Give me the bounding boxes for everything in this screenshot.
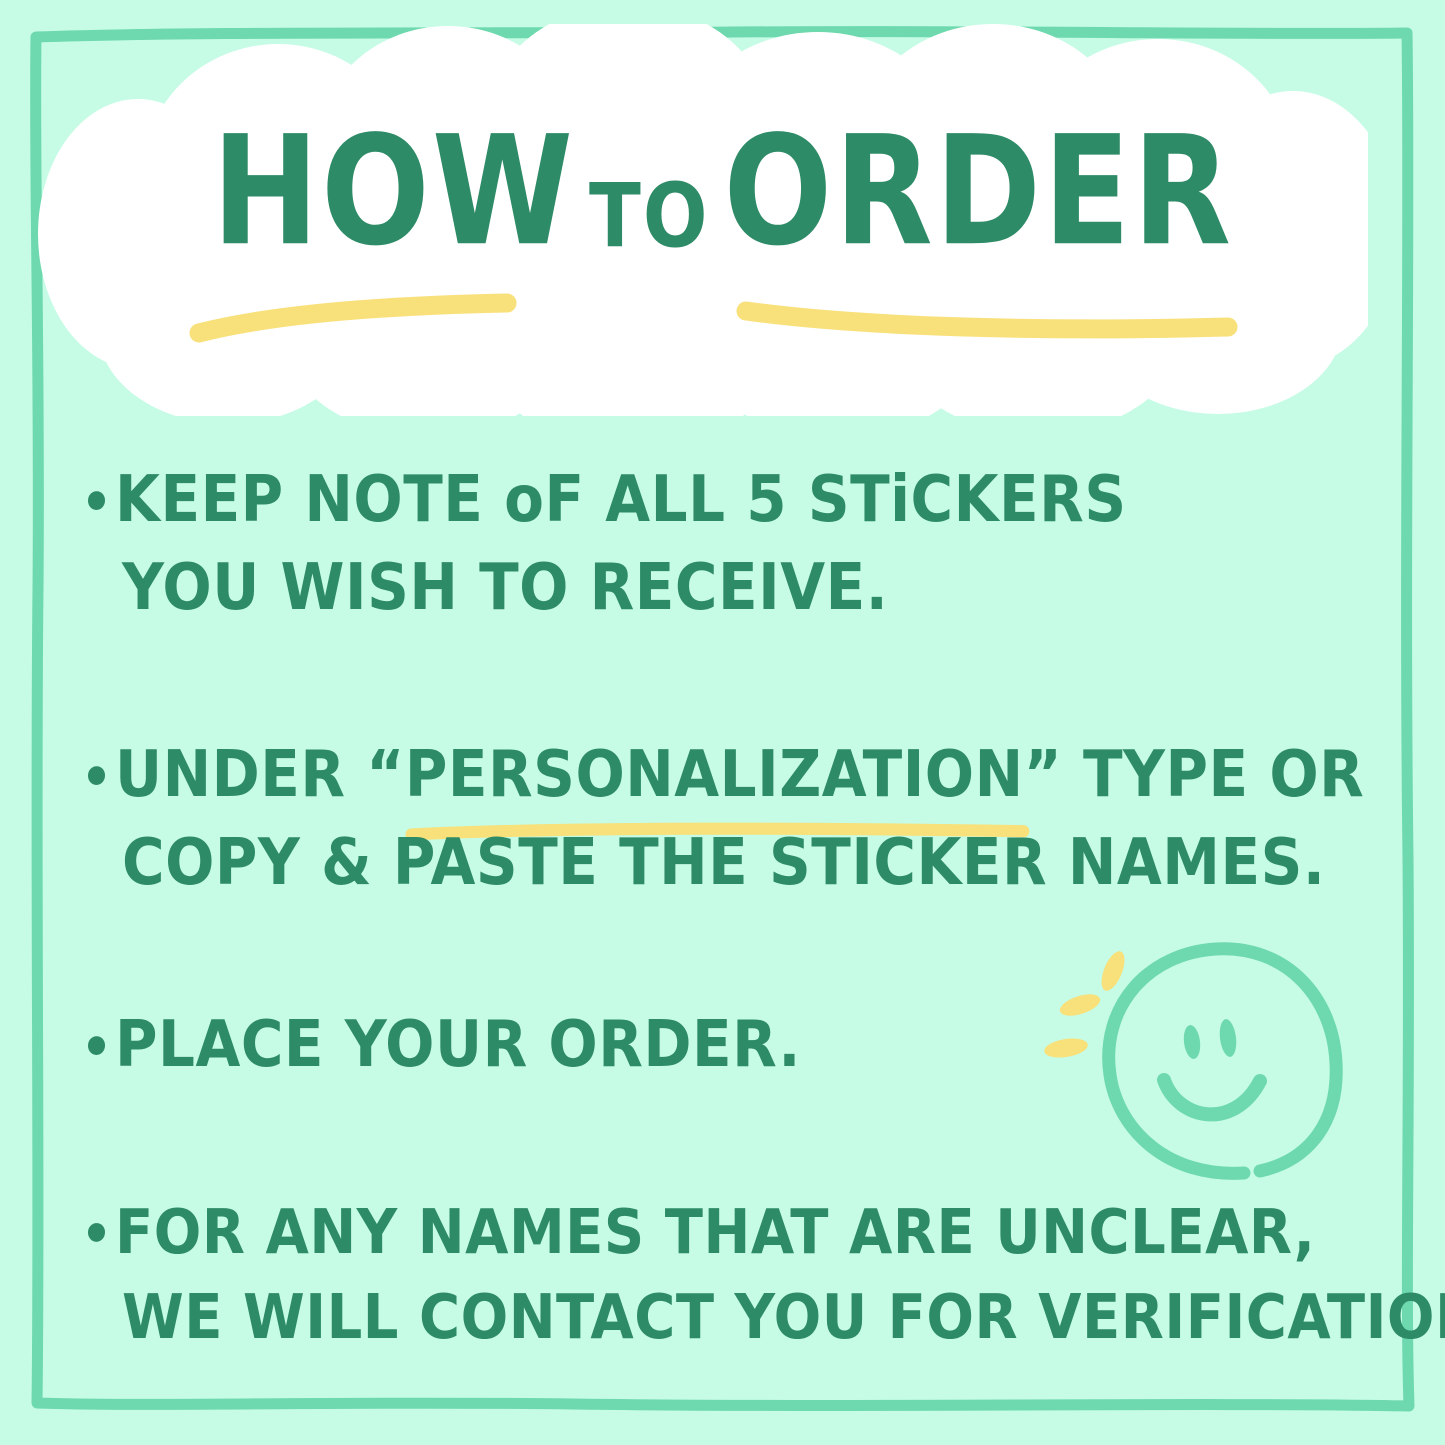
instruction-text: YOU WISH TO RECEIVE. — [122, 550, 888, 625]
bullet-dot-icon — [88, 1223, 105, 1242]
bullet-dot-icon — [88, 1036, 105, 1055]
list-item: PLACE YOUR ORDER. — [88, 1000, 801, 1088]
instruction-text: PLACE YOUR ORDER. — [115, 1007, 801, 1082]
instruction-text: COPY & PASTE THE STICKER NAMES. — [122, 825, 1325, 900]
instruction-line: KEEP NOTE oF ALL 5 STiCKERS — [88, 451, 1127, 548]
instruction-line: WE WILL CONTACT YOU FOR VERIFICATION. — [88, 1271, 1445, 1365]
instruction-text: WE WILL CONTACT YOU FOR VERIFICATION. — [122, 1282, 1445, 1354]
instruction-line: YOU WISH TO RECEIVE. — [88, 539, 1127, 636]
highlighted-term: PERSONALIZATION — [405, 726, 1024, 823]
instruction-line: PLACE YOUR ORDER. — [88, 996, 801, 1093]
instruction-text-pre: UNDER “ — [115, 737, 405, 812]
highlighted-term-text: PERSONALIZATION — [405, 737, 1024, 812]
list-item: KEEP NOTE oF ALL 5 STiCKERS YOU WISH TO … — [88, 455, 1127, 631]
bullet-dot-icon — [88, 766, 105, 785]
bullet-dot-icon — [88, 491, 105, 510]
instruction-list: KEEP NOTE oF ALL 5 STiCKERS YOU WISH TO … — [0, 0, 1445, 1445]
instruction-line: FOR ANY NAMES THAT ARE UNCLEAR, — [88, 1186, 1445, 1280]
list-item: UNDER “PERSONALIZATION” TYPE OR COPY & P… — [88, 730, 1364, 906]
list-item: FOR ANY NAMES THAT ARE UNCLEAR, WE WILL … — [88, 1190, 1445, 1360]
instruction-text: FOR ANY NAMES THAT ARE UNCLEAR, — [115, 1197, 1315, 1269]
instruction-line: COPY & PASTE THE STICKER NAMES. — [88, 814, 1364, 911]
instruction-text: KEEP NOTE oF ALL 5 STiCKERS — [115, 462, 1127, 537]
instruction-line: UNDER “PERSONALIZATION” TYPE OR — [88, 726, 1364, 823]
poster-canvas: HOWTOORDER KEEP NOTE oF ALL 5 STiCKERS Y… — [0, 0, 1445, 1445]
instruction-text-post: ” TYPE OR — [1024, 737, 1365, 812]
